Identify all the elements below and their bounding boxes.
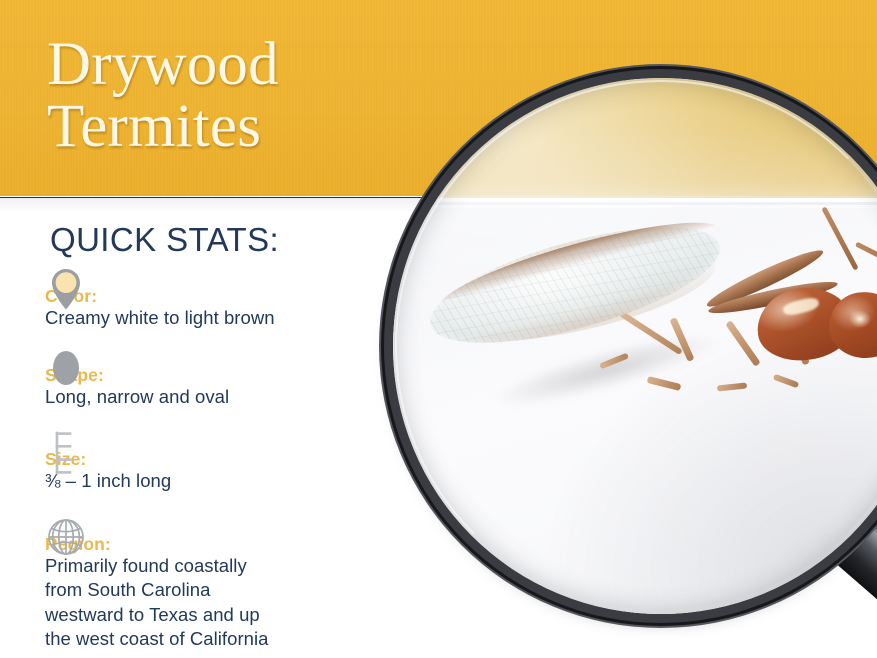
map-pin-icon [45,268,87,320]
stat-label-size: Size: [45,449,375,469]
termite-leg-4-tarsus [773,374,799,389]
lens-magnified-banner [393,78,877,200]
termite-eye [849,310,871,328]
stat-text-shape: Shape: Long, narrow and oval [45,365,375,410]
infographic-card: Drywood Termites QUICK STATS: Color: Cre… [0,0,877,658]
drywood-termite-photo [401,218,877,548]
stat-row-region: Region: Primarily found coastally from S… [45,516,375,652]
quick-stats-heading: QUICK STATS: [50,222,279,258]
stat-text-color: Color: Creamy white to light brown [45,286,375,331]
stat-row-color: Color: Creamy white to light brown [45,268,375,331]
stat-row-size: Size: ⅜ – 1 inch long [45,431,375,494]
oval-shape-icon [45,347,87,399]
magnifying-glass [393,78,877,614]
globe-icon [45,518,87,570]
termite-leg-3-tarsus [717,382,747,391]
termite-antenna-2 [855,242,877,272]
magnifier-lens [393,78,877,614]
quick-stats-list: Color: Creamy white to light brown Shape… [45,268,375,658]
stat-value-region: Primarily found coastally from South Car… [45,554,375,652]
stat-label-color: Color: [45,286,375,306]
stat-value-color: Creamy white to light brown [45,306,375,331]
stat-label-shape: Shape: [45,365,375,385]
stat-row-shape: Shape: Long, narrow and oval [45,347,375,410]
stat-value-shape: Long, narrow and oval [45,385,375,410]
stat-text-region: Region: Primarily found coastally from S… [45,534,375,652]
stat-label-region: Region: [45,534,375,554]
lens-magnified-rule [393,196,877,208]
stat-value-size: ⅜ – 1 inch long [45,469,375,494]
stat-text-size: Size: ⅜ – 1 inch long [45,449,375,494]
ruler-icon [45,431,87,483]
